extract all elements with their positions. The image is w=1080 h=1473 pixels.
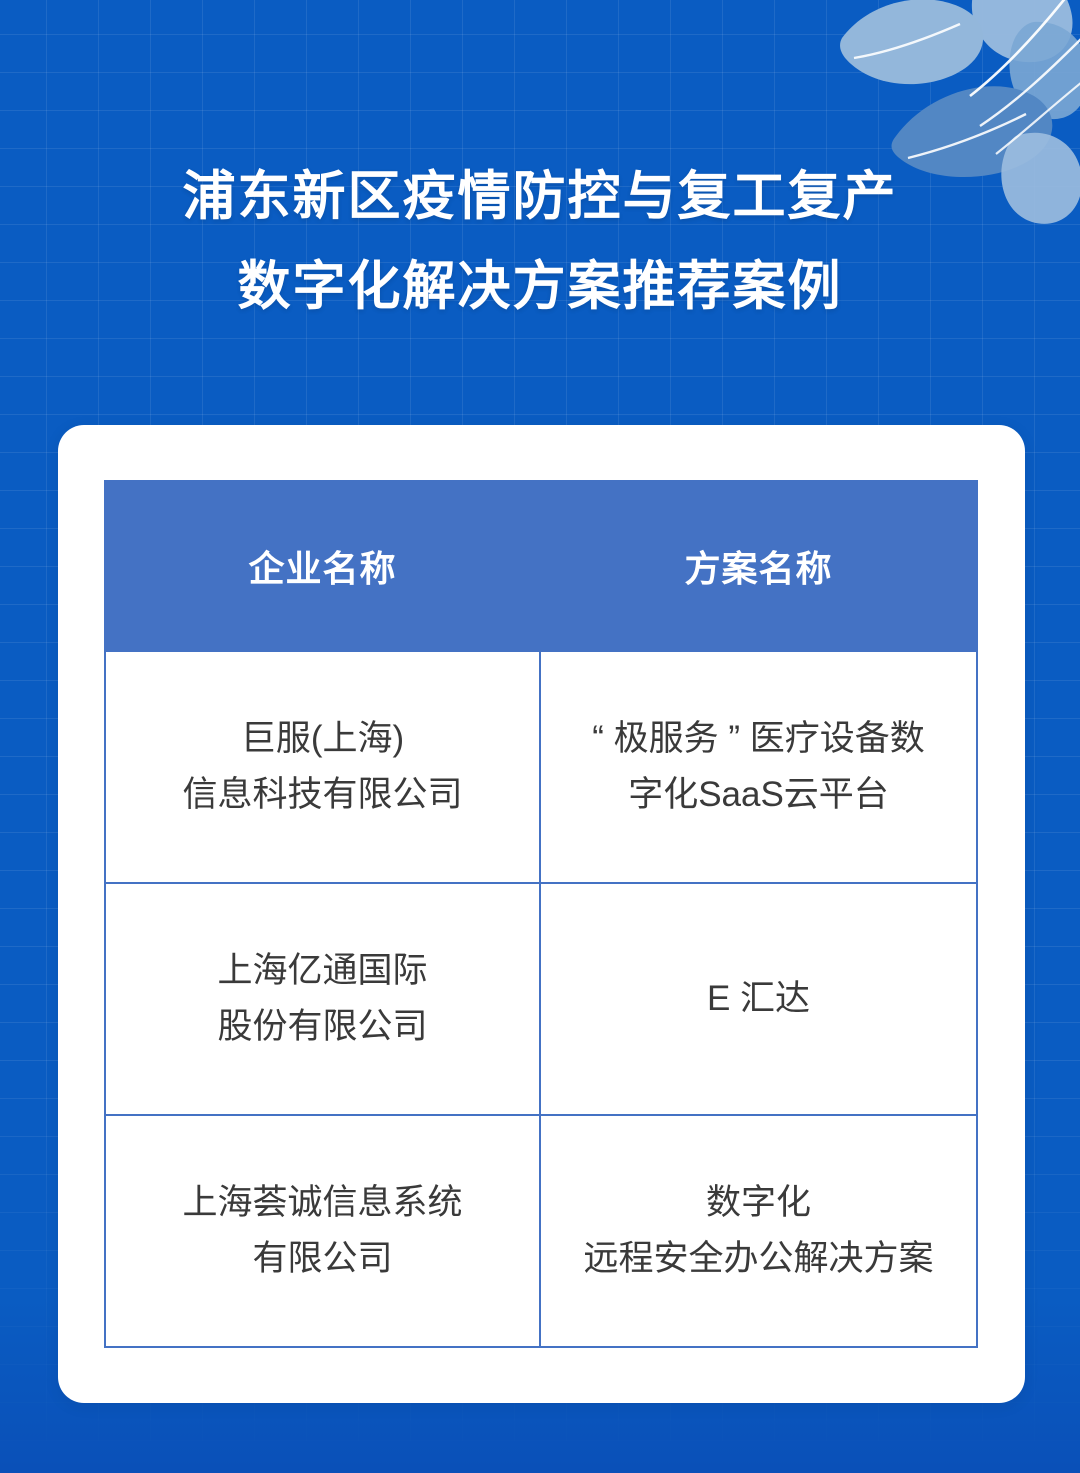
cell-solution-name: “ 极服务 ” 医疗设备数 字化SaaS云平台	[540, 651, 977, 883]
table-row: 上海荟诚信息系统 有限公司 数字化 远程安全办公解决方案	[105, 1115, 977, 1347]
cell-text-line: 数字化	[555, 1175, 962, 1231]
cell-text-line: E 汇达	[555, 971, 962, 1027]
cell-company-name: 上海亿通国际 股份有限公司	[105, 883, 540, 1115]
cell-text-line: “ 极服务 ” 医疗设备数	[555, 711, 962, 767]
cell-company-name: 上海荟诚信息系统 有限公司	[105, 1115, 540, 1347]
cell-text-line: 有限公司	[120, 1231, 525, 1287]
cell-text-line: 上海亿通国际	[120, 943, 525, 999]
cell-text-line: 远程安全办公解决方案	[555, 1231, 962, 1287]
cell-company-name: 巨服(上海) 信息科技有限公司	[105, 651, 540, 883]
cell-solution-name: E 汇达	[540, 883, 977, 1115]
recommended-cases-table: 企业名称 方案名称 巨服(上海) 信息科技有限公司 “ 极服务 ” 医疗设备数 …	[104, 480, 978, 1348]
cell-text-line: 上海荟诚信息系统	[120, 1175, 525, 1231]
cell-text-line: 字化SaaS云平台	[555, 767, 962, 823]
page-title-line-1: 浦东新区疫情防控与复工复产	[0, 152, 1080, 242]
column-header-solution: 方案名称	[540, 481, 977, 651]
page-title-line-2: 数字化解决方案推荐案例	[0, 242, 1080, 332]
content-card: 企业名称 方案名称 巨服(上海) 信息科技有限公司 “ 极服务 ” 医疗设备数 …	[58, 425, 1025, 1403]
table-header-row: 企业名称 方案名称	[105, 481, 977, 651]
table-row: 巨服(上海) 信息科技有限公司 “ 极服务 ” 医疗设备数 字化SaaS云平台	[105, 651, 977, 883]
table-row: 上海亿通国际 股份有限公司 E 汇达	[105, 883, 977, 1115]
cell-solution-name: 数字化 远程安全办公解决方案	[540, 1115, 977, 1347]
page-title: 浦东新区疫情防控与复工复产 数字化解决方案推荐案例	[0, 152, 1080, 332]
column-header-company: 企业名称	[105, 481, 540, 651]
cell-text-line: 信息科技有限公司	[120, 767, 525, 823]
cell-text-line: 股份有限公司	[120, 999, 525, 1055]
cell-text-line: 巨服(上海)	[120, 711, 525, 767]
